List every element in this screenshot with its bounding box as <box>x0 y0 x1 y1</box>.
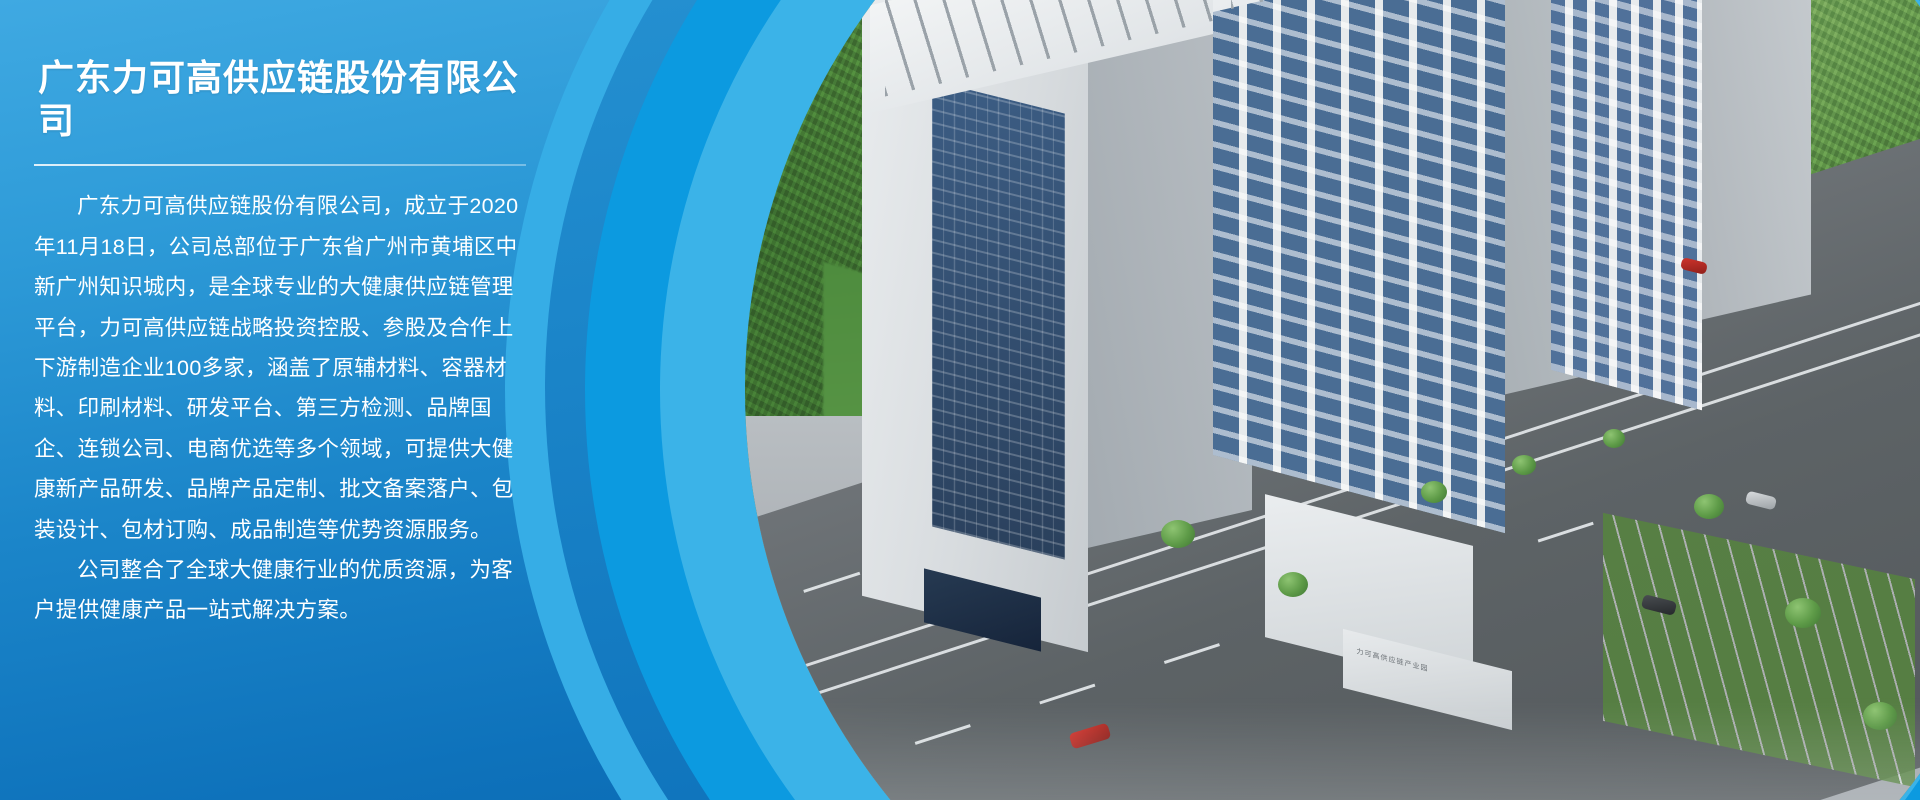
title-divider <box>34 164 526 166</box>
street-tree <box>1161 520 1195 548</box>
street-tree <box>1512 455 1536 475</box>
ground-haze <box>745 702 1920 800</box>
campus-photo: 力可高供应链产业园 <box>745 0 1920 800</box>
banner-stage: 力可高供应链产业园 广东力可高供应链股份有限公司 广东力 <box>0 0 1920 800</box>
street-tree <box>1421 481 1447 503</box>
signage-text: 力可高供应链产业园 <box>1357 646 1429 674</box>
company-title: 广东力可高供应链股份有限公司 <box>34 56 526 142</box>
paragraph-2: 公司整合了全球大健康行业的优质资源，为客户提供健康产品一站式解决方案。 <box>34 550 526 631</box>
street-tree <box>1603 429 1625 448</box>
company-description: 广东力可高供应链股份有限公司，成立于2020年11月18日，公司总部位于广东省广… <box>34 186 526 630</box>
street-tree <box>1278 572 1308 597</box>
street-tree <box>1694 494 1724 519</box>
campus-photo-disc: 力可高供应链产业园 <box>745 0 1920 800</box>
street-tree <box>1785 598 1821 628</box>
intro-text-column: 广东力可高供应链股份有限公司 广东力可高供应链股份有限公司，成立于2020年11… <box>0 0 560 800</box>
paragraph-1: 广东力可高供应链股份有限公司，成立于2020年11月18日，公司总部位于广东省广… <box>34 186 526 550</box>
office-tower-rear <box>1551 0 1811 390</box>
